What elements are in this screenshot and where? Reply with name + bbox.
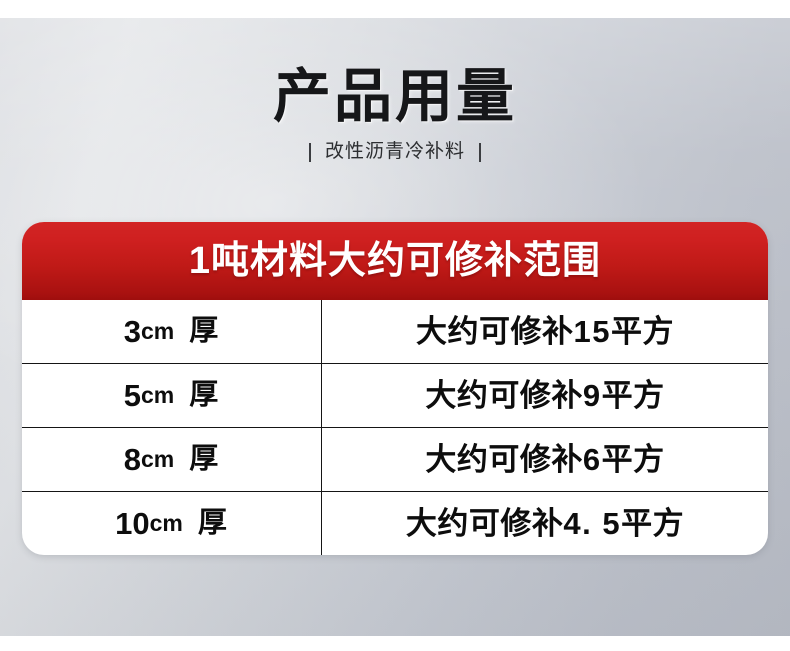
cell-area: 大约可修补4. 5平方 xyxy=(322,492,768,555)
bottom-white-strip xyxy=(0,636,790,651)
table-banner: 1吨材料大约可修补范围 xyxy=(22,222,768,300)
thickness-unit: cm xyxy=(141,320,174,343)
cell-thickness: 10cm厚 xyxy=(22,492,322,555)
thickness-unit: cm xyxy=(141,384,174,407)
usage-table-card: 1吨材料大约可修补范围 3cm厚 大约可修补15平方 5cm厚 大约可修补9平方 xyxy=(22,222,768,555)
area-value: 6 xyxy=(583,442,602,477)
area-suffix: 平方 xyxy=(602,378,665,413)
promo-page: 产品用量 改性沥青冷补料 1吨材料大约可修补范围 3cm厚 大约可修补15平方 xyxy=(0,0,790,651)
table-row: 5cm厚 大约可修补9平方 xyxy=(22,364,768,428)
thickness-unit: cm xyxy=(141,448,174,471)
thickness-word: 厚 xyxy=(198,509,228,538)
table-banner-text: 1吨材料大约可修补范围 xyxy=(189,239,601,283)
thickness-word: 厚 xyxy=(189,445,219,474)
table-row: 10cm厚 大约可修补4. 5平方 xyxy=(22,492,768,555)
area-prefix: 大约可修补 xyxy=(406,506,564,541)
area-value: 9 xyxy=(583,378,602,413)
area-value: 4. 5 xyxy=(563,506,621,541)
subtitle-left-bar-icon xyxy=(309,143,311,162)
cell-area: 大约可修补15平方 xyxy=(322,300,768,363)
subtitle-row: 改性沥青冷补料 xyxy=(0,140,790,164)
table-row: 3cm厚 大约可修补15平方 xyxy=(22,300,768,364)
table-row: 8cm厚 大约可修补6平方 xyxy=(22,428,768,492)
subtitle-text: 改性沥青冷补料 xyxy=(325,140,465,164)
thickness-value: 8 xyxy=(124,444,141,475)
area-suffix: 平方 xyxy=(602,442,665,477)
thickness-value: 10 xyxy=(115,508,149,539)
area-value: 15 xyxy=(574,314,611,349)
thickness-word: 厚 xyxy=(189,381,219,410)
cell-thickness: 5cm厚 xyxy=(22,364,322,427)
thickness-value: 5 xyxy=(124,380,141,411)
area-suffix: 平方 xyxy=(611,314,674,349)
thickness-unit: cm xyxy=(150,512,183,535)
subtitle-right-bar-icon xyxy=(479,143,481,162)
cell-area: 大约可修补6平方 xyxy=(322,428,768,491)
area-prefix: 大约可修补 xyxy=(425,442,583,477)
area-prefix: 大约可修补 xyxy=(425,378,583,413)
thickness-value: 3 xyxy=(124,316,141,347)
cell-area: 大约可修补9平方 xyxy=(322,364,768,427)
area-prefix: 大约可修补 xyxy=(416,314,574,349)
thickness-word: 厚 xyxy=(189,317,219,346)
table-body: 3cm厚 大约可修补15平方 5cm厚 大约可修补9平方 8cm厚 xyxy=(22,300,768,555)
page-title: 产品用量 xyxy=(0,62,790,132)
cell-thickness: 3cm厚 xyxy=(22,300,322,363)
area-suffix: 平方 xyxy=(621,506,684,541)
cell-thickness: 8cm厚 xyxy=(22,428,322,491)
heading-block: 产品用量 改性沥青冷补料 xyxy=(0,62,790,164)
